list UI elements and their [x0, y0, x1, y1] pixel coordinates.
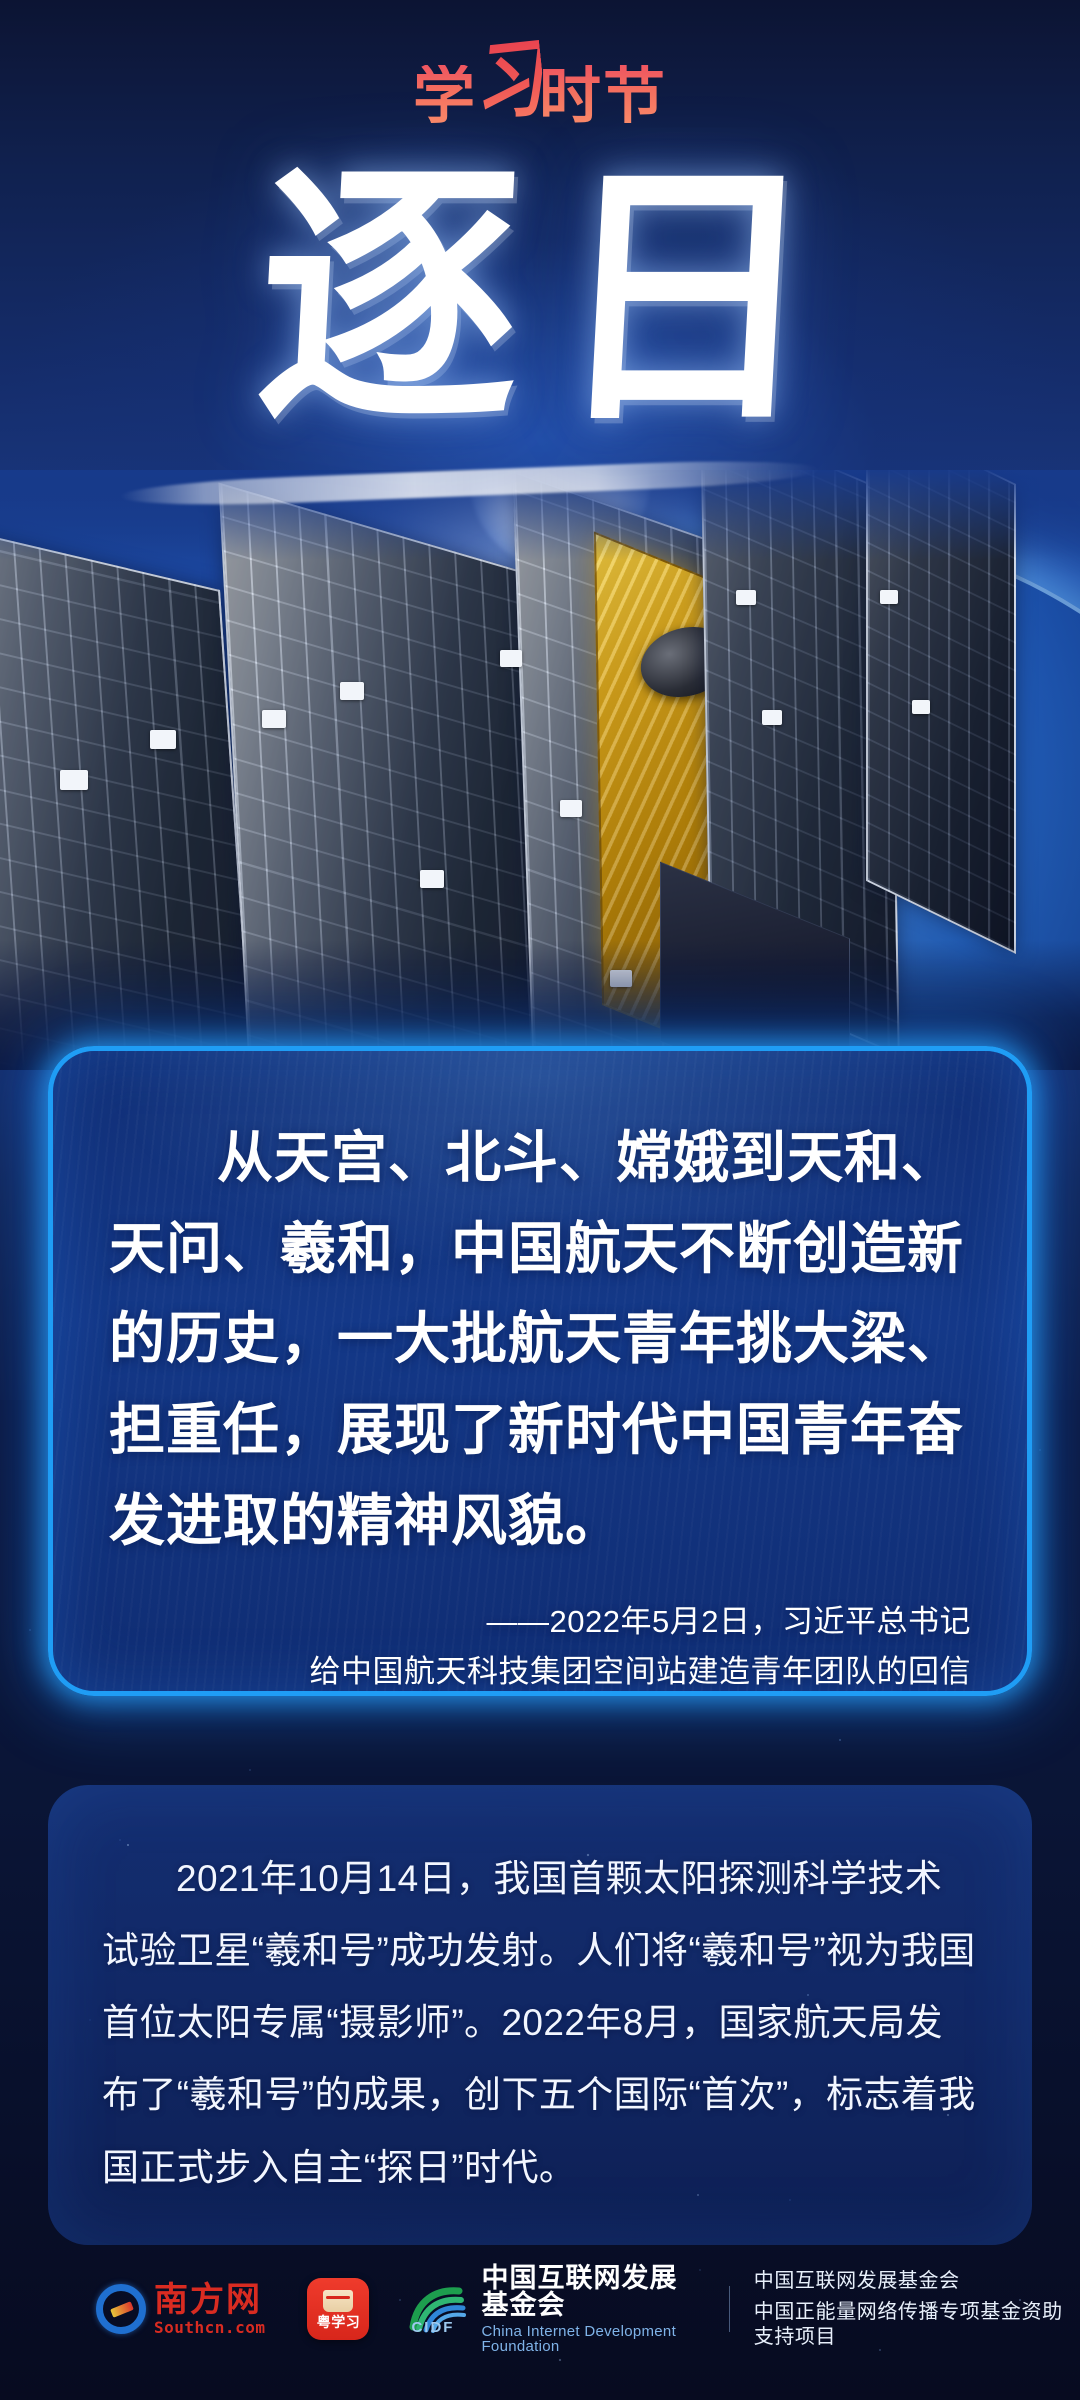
southcn-name-en: Southcn.com — [154, 2320, 265, 2336]
panel-connector-tab — [500, 650, 522, 667]
satellite-photo — [0, 470, 1080, 1070]
panel-connector-tab — [420, 870, 444, 888]
panel-connector-tab — [262, 710, 286, 728]
quote-text: 从天宫、北斗、嫦娥到天和、天问、羲和，中国航天不断创造新的历史，一大批航天青年挑… — [109, 1113, 971, 1567]
cidf-name-en: China Internet Development Foundation — [481, 2324, 702, 2354]
brand-char-xue: 学 — [413, 65, 477, 127]
poster-root: 学习时节 逐日 从天宫、北斗、嫦娥到天和、天问、羲和 — [0, 0, 1080, 2400]
southcn-logo[interactable]: 南方网 Southcn.com — [96, 2283, 265, 2336]
panel-connector-tab — [60, 770, 88, 790]
attribution-line-1: ——2022年5月2日，习近平总书记 — [109, 1597, 971, 1647]
panel-connector-tab — [762, 710, 782, 725]
panel-connector-tab — [912, 700, 930, 714]
footer-line-2: 中国正能量网络传播专项基金资助支持项目 — [754, 2300, 1080, 2350]
panel-connector-tab — [880, 590, 898, 604]
panel-connector-tab — [736, 590, 756, 605]
page-title: 逐日 — [0, 160, 1080, 435]
brand-char-shi: 时 — [539, 65, 603, 127]
brand-logo: 学习时节 — [0, 58, 1080, 128]
footer: 南方网 Southcn.com 粤学习 CIDF 中国互联网发展基金会 Chin… — [0, 2268, 1080, 2350]
footer-divider — [729, 2286, 730, 2332]
southcn-wordmark: 南方网 Southcn.com — [154, 2283, 265, 2336]
cidf-abbreviation: CIDF — [411, 2319, 454, 2336]
panel-connector-tab — [560, 800, 582, 817]
cidf-arcs-icon: CIDF — [409, 2285, 471, 2333]
attribution-line-2: 给中国航天科技集团空间站建造青年团队的回信 — [109, 1647, 971, 1696]
cidf-name-cn: 中国互联网发展基金会 — [481, 2265, 702, 2319]
panel-connector-tab — [150, 730, 176, 749]
quote-attribution: ——2022年5月2日，习近平总书记 给中国航天科技集团空间站建造青年团队的回信 — [109, 1597, 971, 1696]
hero-title-text: 逐日 — [221, 152, 858, 444]
brand-char-xi: 习 — [469, 35, 548, 127]
southcn-name-cn: 南方网 — [154, 2283, 265, 2317]
cidf-logo[interactable]: CIDF 中国互联网发展基金会 China Internet Developme… — [409, 2265, 702, 2354]
panel-connector-tab — [340, 682, 364, 700]
yuexuexi-label: 粤学习 — [317, 2315, 361, 2329]
body-text: 2021年10月14日，我国首颗太阳探测科学技术试验卫星“羲和号”成功发射。人们… — [102, 1843, 978, 2204]
body-card: 2021年10月14日，我国首颗太阳探测科学技术试验卫星“羲和号”成功发射。人们… — [48, 1785, 1032, 2245]
brand-char-jie: 节 — [603, 65, 667, 127]
cidf-wordmark: 中国互联网发展基金会 China Internet Development Fo… — [481, 2265, 702, 2354]
southcn-ring-icon — [96, 2284, 146, 2334]
yuexuexi-app-icon[interactable]: 粤学习 — [307, 2278, 369, 2340]
footer-line-1: 中国互联网发展基金会 — [754, 2269, 1080, 2294]
footer-sponsor-text: 中国互联网发展基金会 中国正能量网络传播专项基金资助支持项目 — [754, 2269, 1080, 2350]
quote-card: 从天宫、北斗、嫦娥到天和、天问、羲和，中国航天不断创造新的历史，一大批航天青年挑… — [48, 1046, 1032, 1696]
yuexuexi-book-icon — [323, 2290, 353, 2312]
